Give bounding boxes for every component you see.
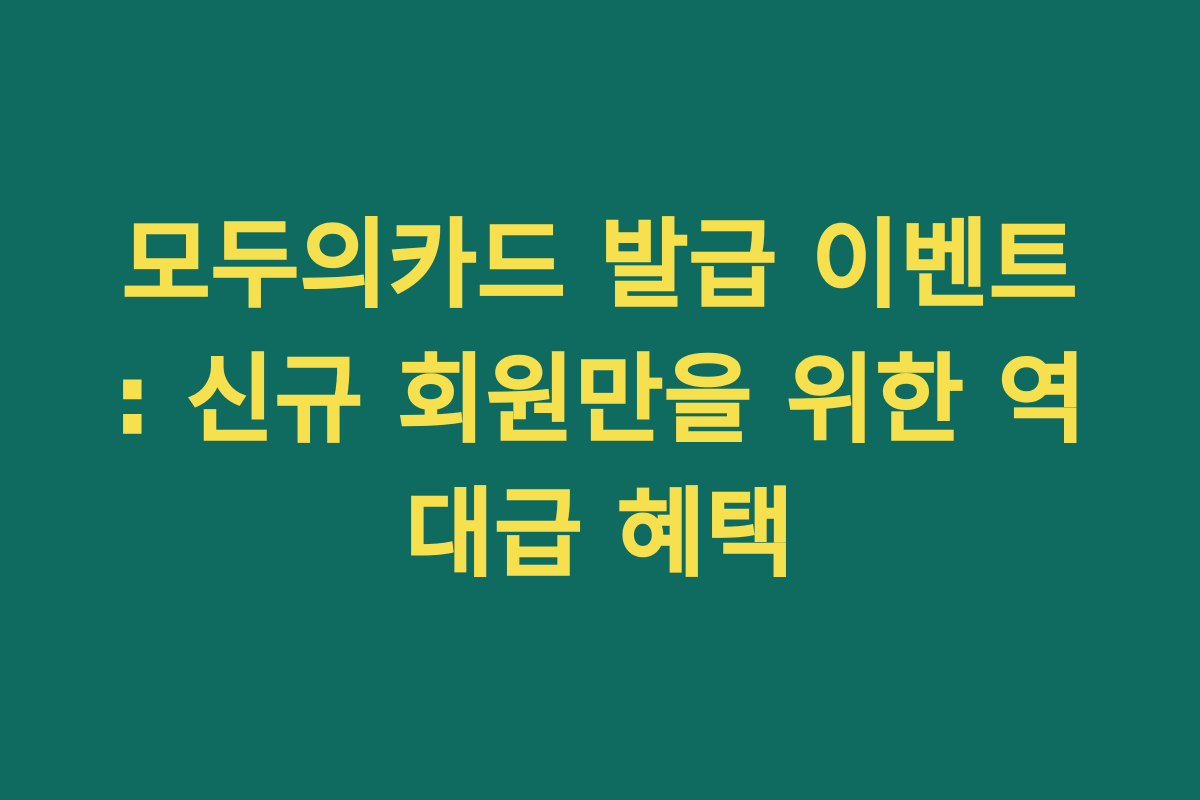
event-banner: 모두의카드 발급 이벤트 : 신규 회원만을 위한 역 대급 혜택 <box>0 0 1200 800</box>
headline-line-1: 모두의카드 발급 이벤트 <box>80 198 1120 332</box>
headline-line-2: : 신규 회원만을 위한 역 <box>80 333 1120 467</box>
banner-headline: 모두의카드 발급 이벤트 : 신규 회원만을 위한 역 대급 혜택 <box>80 198 1120 601</box>
headline-line-3: 대급 혜택 <box>80 467 1120 601</box>
